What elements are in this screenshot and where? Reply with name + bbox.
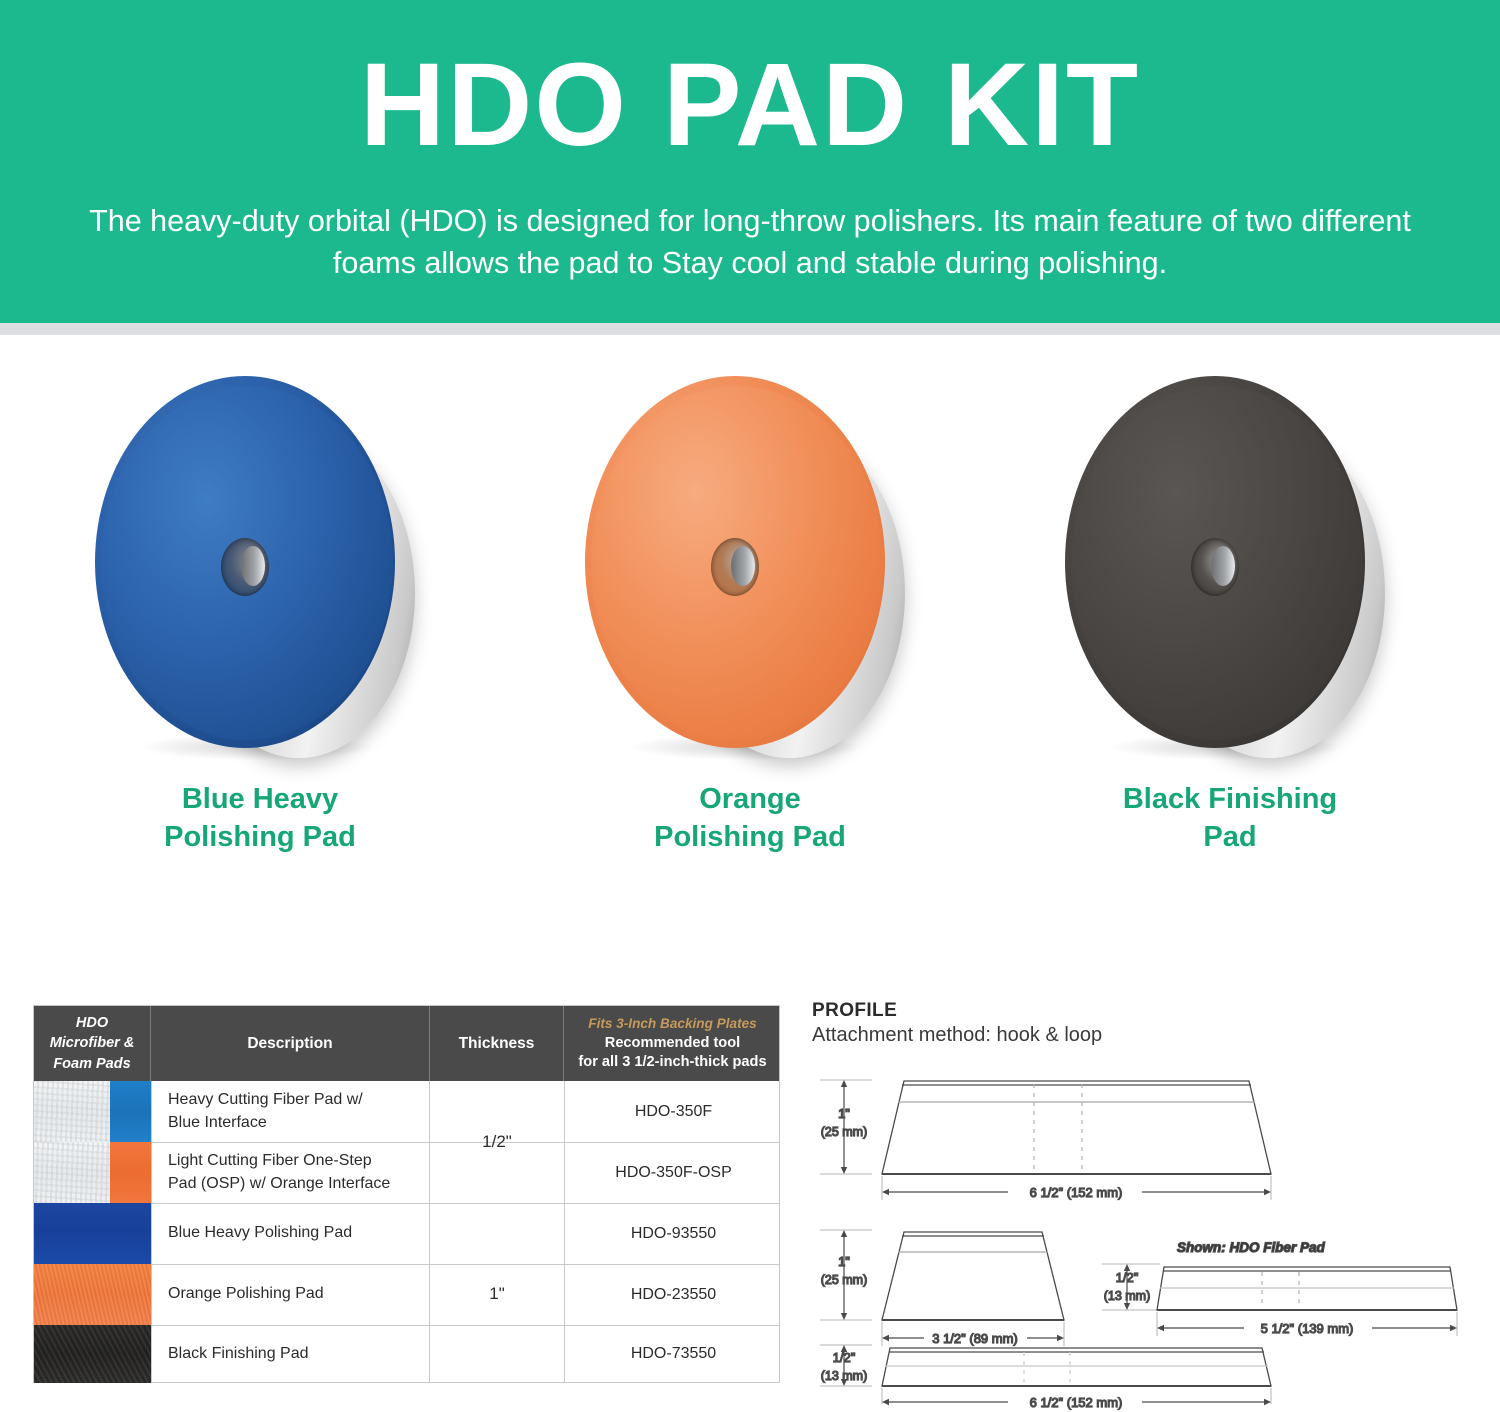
dim-height-mm: (13 mm) [1104, 1289, 1151, 1303]
row-swatch-solid-orange [34, 1264, 151, 1325]
pad-center-hole-inner [731, 546, 755, 586]
dim-height-label: 1/2" [1116, 1270, 1139, 1285]
orange-foam-pad-image [585, 376, 915, 766]
hero-subtitle: The heavy-duty orbital (HDO) is designed… [52, 200, 1448, 284]
product-card-black: Black Finishing Pad [980, 350, 1480, 910]
table-header-description-label: Description [247, 1035, 332, 1053]
product-gallery: Blue Heavy Polishing Pad Orange Polishin… [0, 350, 1500, 910]
row-swatch-fiber-blue [34, 1081, 151, 1142]
diagram-3half-1in: 1" (25 mm) 3 1/2" (89 mm) [820, 1230, 1064, 1346]
profile-subtitle: Attachment method: hook & loop [812, 1024, 1102, 1047]
blue-foam-pad-image [95, 376, 425, 766]
dim-width-label: 5 1/2" (139 mm) [1261, 1321, 1354, 1336]
product-label-black: Black Finishing Pad [980, 780, 1480, 857]
table-header-pads-label: HDO Microfiber & Foam Pads [50, 1013, 135, 1075]
product-label-blue: Blue Heavy Polishing Pad [10, 780, 510, 857]
diagram-6half-half-in-width-dim: 6 1/2" (152 mm) [882, 1388, 1271, 1410]
row-description: Orange Polishing Pad [151, 1264, 430, 1325]
row-swatch-solid-blue [34, 1203, 151, 1264]
table-header-thickness: Thickness [430, 1006, 564, 1081]
product-label-orange: Orange Polishing Pad [500, 780, 1000, 857]
swatch-microfiber-face [34, 1081, 110, 1142]
row-description: Blue Heavy Polishing Pad [151, 1203, 430, 1264]
dim-height-label: 1/2" [833, 1350, 856, 1365]
row-description: Heavy Cutting Fiber Pad w/ Blue Interfac… [151, 1081, 430, 1142]
swatch-blue-foam [34, 1203, 151, 1264]
row-tool: HDO-350F [564, 1081, 782, 1142]
thickness-group-half-inch: 1/2" [430, 1081, 564, 1203]
table-header-recommended-tool: Fits 3-Inch Backing Plates Recommended t… [564, 1006, 781, 1081]
table-row: Blue Heavy Polishing Pad HDO-93550 [34, 1203, 779, 1264]
row-tool: HDO-93550 [564, 1203, 782, 1264]
swatch-blue-interface-edge [110, 1081, 151, 1142]
table-header-fits-plates-label: Fits 3-Inch Backing Plates [588, 1016, 756, 1031]
diagram-6half-half-in: 1/2" (13 mm) [820, 1345, 1271, 1386]
table-header-recommended-tool-label: Recommended tool for all 3 1/2-inch-thic… [578, 1035, 766, 1071]
dim-width-label: 6 1/2" (152 mm) [1030, 1185, 1123, 1200]
row-tool: HDO-350F-OSP [564, 1142, 782, 1203]
black-foam-pad-image [1065, 376, 1395, 766]
product-card-blue: Blue Heavy Polishing Pad [10, 350, 510, 910]
row-tool: HDO-23550 [564, 1264, 782, 1325]
row-swatch-solid-black [34, 1325, 151, 1383]
profile-panel: PROFILE Attachment method: hook & loop 1… [812, 1000, 1492, 1388]
table-row: Orange Polishing Pad HDO-23550 [34, 1264, 779, 1325]
table-row: Light Cutting Fiber One-Step Pad (OSP) w… [34, 1142, 779, 1203]
dim-height-mm: (13 mm) [821, 1369, 868, 1383]
spec-table: HDO Microfiber & Foam Pads Description T… [33, 1005, 780, 1383]
swatch-orange-foam [34, 1264, 151, 1325]
row-description: Light Cutting Fiber One-Step Pad (OSP) w… [151, 1142, 430, 1203]
profile-note: Shown: HDO Fiber Pad [1177, 1240, 1326, 1255]
product-card-orange: Orange Polishing Pad [500, 350, 1000, 910]
swatch-orange-interface-edge [110, 1142, 151, 1203]
swatch-microfiber-face [34, 1142, 110, 1203]
row-swatch-fiber-orange [34, 1142, 151, 1203]
dim-height-label: 1" [838, 1106, 850, 1121]
pad-center-hole-inner [241, 546, 265, 586]
table-body: Heavy Cutting Fiber Pad w/ Blue Interfac… [34, 1081, 779, 1383]
table-header-row: HDO Microfiber & Foam Pads Description T… [34, 1006, 779, 1081]
profile-spacer [812, 1388, 1492, 1389]
dim-width-label: 3 1/2" (89 mm) [932, 1331, 1018, 1346]
diagram-5half-half-in: Shown: HDO Fiber Pad 1/2" (13 mm) 5 1/ [1102, 1240, 1457, 1336]
table-header-description: Description [151, 1006, 430, 1081]
table-row: Heavy Cutting Fiber Pad w/ Blue Interfac… [34, 1081, 779, 1142]
hero-banner: HDO PAD KIT The heavy-duty orbital (HDO)… [0, 0, 1500, 323]
dim-height-label: 1" [838, 1254, 850, 1269]
page-title: HDO PAD KIT [0, 44, 1500, 168]
profile-diagrams: 1" (25 mm) 6 1/2" (152 mm) [812, 1052, 1492, 1412]
table-row: Black Finishing Pad HDO-73550 [34, 1325, 779, 1383]
hero-divider [0, 323, 1500, 335]
dim-height-mm: (25 mm) [821, 1273, 868, 1287]
row-tool: HDO-73550 [564, 1325, 782, 1383]
swatch-black-foam [34, 1325, 151, 1383]
table-header-pads: HDO Microfiber & Foam Pads [34, 1006, 151, 1081]
dim-width-label: 6 1/2" (152 mm) [1030, 1395, 1123, 1410]
pad-center-hole-inner [1211, 546, 1235, 586]
dim-height-mm: (25 mm) [821, 1125, 868, 1139]
thickness-group-one-inch: 1" [430, 1203, 564, 1384]
table-header-thickness-label: Thickness [459, 1035, 535, 1053]
diagram-6half-1in: 1" (25 mm) 6 1/2" (152 mm) [820, 1080, 1271, 1200]
row-description: Black Finishing Pad [151, 1325, 430, 1383]
profile-title: PROFILE [812, 1000, 897, 1022]
